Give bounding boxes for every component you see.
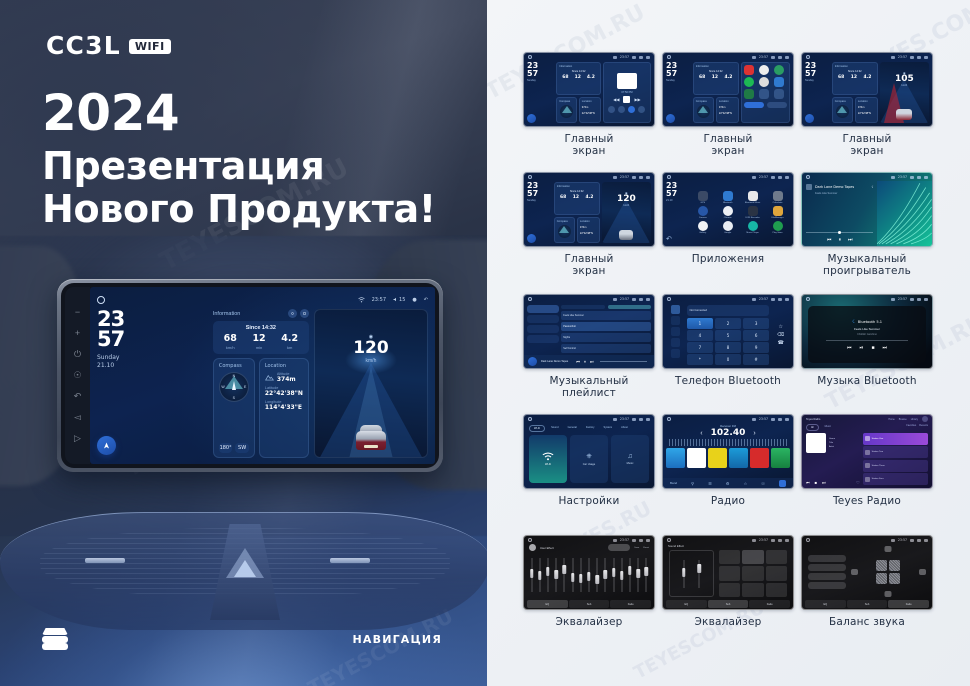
app-item[interactable]: DVR Recorder (741, 206, 764, 219)
quick-toggle-1[interactable] (744, 102, 764, 108)
plus-icon[interactable]: + (72, 328, 83, 339)
effect-grid[interactable] (719, 550, 787, 597)
status-time: 23:57 (759, 297, 768, 301)
latitude-value: 22°42'38"N (582, 112, 598, 115)
device-name: Not Connected (690, 309, 707, 312)
effect-tile[interactable] (742, 550, 763, 564)
compass-n: N (233, 374, 236, 378)
settings-tabs[interactable]: Wi-Fi Sound General Factory System About (524, 423, 654, 434)
stat-time-value: 12 (252, 334, 265, 344)
gallery-item[interactable]: Teyes RadioHomeBrowseLibrary All Music F… (801, 414, 933, 508)
dial-key[interactable]: * (687, 354, 714, 365)
clock-day: Sunday (97, 354, 208, 362)
volume-icon (910, 298, 914, 301)
number-field[interactable]: Not Connected (687, 305, 770, 316)
station-row[interactable]: Station Three (863, 460, 928, 472)
thumbnail-bluetooth-music[interactable]: 23:57 ☇ Bluetooth 5.1 Feels Like Summer … (801, 294, 933, 369)
media-opt-3[interactable] (628, 106, 635, 113)
location-title: Location (580, 220, 597, 223)
dial-key[interactable]: 3 (743, 318, 770, 329)
sub-sliders[interactable] (669, 550, 714, 597)
thumbnail-music-player[interactable]: 23:57 Dark Lane Demo Tapes ☇ Feels Like … (801, 172, 933, 247)
thumbnail-settings[interactable]: 23:57 Wi-Fi Sound General Factory System… (523, 414, 655, 489)
hero-line-2: Нового Продукта! (42, 188, 452, 231)
prev-station-icon[interactable]: ‹ (700, 430, 702, 437)
tab-eq[interactable]: EQ (527, 600, 568, 608)
preset-rear[interactable] (808, 564, 846, 571)
balance-up-button[interactable] (885, 546, 892, 552)
preset-5[interactable] (750, 448, 769, 468)
gallery-item[interactable]: 23:57 23 57 Sunday Information Since 14:… (523, 52, 655, 158)
stat-distance-value: 4.2 (863, 75, 871, 80)
dial-key[interactable]: # (743, 354, 770, 365)
preset-front[interactable] (808, 555, 846, 562)
favorite-heart-icon[interactable]: ♡ (856, 480, 860, 485)
thumbnail-music-playlist[interactable]: 23:57 Feels Like Summer Passionfruit (523, 294, 655, 369)
status-time: 23:57 (620, 55, 629, 59)
volume-icon (910, 176, 914, 179)
thumbnail-home-speed-120[interactable]: 23:57 23 57 Sunday Information Since 14:… (523, 172, 655, 247)
prev-icon[interactable]: ◀◀ (613, 97, 619, 102)
gallery-item[interactable]: 23:57 Feels Like Summer Passionfruit (523, 294, 655, 400)
media-widget[interactable]: 07:50 PM ◀◀ ▶▶ (603, 62, 651, 123)
dial-key[interactable]: 2 (715, 318, 742, 329)
app-icon-settings[interactable] (759, 89, 769, 99)
status-time: 23:57 (620, 417, 629, 421)
effect-tile[interactable] (719, 566, 740, 580)
thumbnail-sound-balance[interactable]: 23:57 (801, 535, 933, 610)
tab-fade[interactable]: Fade (888, 600, 929, 608)
grid-icon[interactable] (779, 480, 786, 487)
nav-item-home[interactable]: Home (888, 418, 894, 421)
back-icon[interactable]: ↶ (424, 297, 428, 303)
balance-left-button[interactable] (851, 569, 858, 575)
tab-sub[interactable]: Sub (708, 600, 749, 608)
gallery-item[interactable]: 23:57 23 57 Sunday Information Since 14:… (523, 172, 655, 278)
compass-e: E (244, 385, 246, 389)
seek-bar[interactable] (600, 361, 647, 362)
dial-key[interactable]: 6 (743, 330, 770, 341)
tab-sub[interactable]: Sub (847, 600, 888, 608)
equalizer-tabs[interactable]: EQ Sub Fade (802, 600, 932, 609)
effect-tile[interactable] (766, 566, 787, 580)
home-icon[interactable] (97, 296, 105, 304)
compass-dial (836, 105, 849, 118)
preset-6[interactable] (771, 448, 790, 468)
thumbnail-bluetooth-phone[interactable]: 23:57 Not Connected (662, 294, 794, 369)
road-speed-widget[interactable]: ◉ 105 km/h (880, 62, 929, 123)
bt-now-playing-card: ☇ Bluetooth 5.1 Feels Like Summer Childi… (808, 306, 926, 363)
status-time: 23:57 (898, 175, 907, 179)
app-item[interactable]: Bluetooth Music (741, 191, 764, 204)
settings-tile-music[interactable]: ♫ Music (611, 435, 649, 483)
back-icon[interactable]: ↶ (72, 391, 83, 402)
stat-speed-value: 68 (224, 334, 237, 344)
power-icon[interactable]: ⏻ (72, 349, 83, 360)
bluetooth-icon: ☇ (871, 185, 873, 189)
volume-up-icon[interactable]: ▷ (72, 433, 83, 444)
balance-presets[interactable] (808, 546, 846, 597)
track-list[interactable]: Feels Like Summer Passionfruit Nights Se… (561, 305, 651, 353)
road-speed-widget[interactable]: ◉ 120 km/h (602, 182, 651, 243)
sub-slider[interactable] (698, 560, 701, 588)
prev-icon[interactable]: ⏮ (827, 237, 832, 243)
media-opt-1[interactable] (608, 106, 615, 113)
compass-needle (232, 381, 236, 390)
track-row[interactable]: Self Control (561, 344, 651, 354)
sidebar-item-artist[interactable] (527, 315, 559, 323)
gallery-item[interactable]: 23:57 23 57 Sunday Information Since 14:… (801, 52, 933, 158)
thumbnail-equalizer-simple[interactable]: 23:57 Sound Effect (662, 535, 794, 610)
balance-pad[interactable] (851, 546, 926, 597)
favorite-star-icon[interactable]: ☆ (778, 324, 782, 330)
thumbnail-apps[interactable]: 23:57 23 57 21.10 ↶ GPS Bluetooth Blueto… (662, 172, 794, 247)
app-item[interactable]: GPS (691, 191, 714, 204)
eq-band[interactable] (612, 558, 615, 592)
station-row[interactable]: Station One (863, 433, 928, 445)
tab-wifi[interactable]: Wi-Fi (529, 425, 545, 432)
eq-band[interactable] (546, 558, 549, 592)
since-label: Since 14:32 (216, 325, 306, 331)
stat-speed-value: 68 (562, 75, 568, 80)
seek-handle[interactable] (838, 231, 841, 234)
tab-general[interactable]: General (565, 425, 580, 432)
gallery-item[interactable]: 23:57 Not Connected (662, 294, 794, 388)
equalizer-icon[interactable]: ⚙ (726, 481, 730, 486)
eq-band[interactable] (571, 558, 574, 592)
avatar[interactable] (922, 416, 928, 422)
gallery-item[interactable]: 23:57 User Effect Save Reset (523, 535, 655, 629)
app-item[interactable]: Play Store (766, 221, 789, 234)
compass-widget: Compass (832, 97, 853, 123)
gallery-item[interactable]: 23:57 Wi-Fi Sound General Factory System… (523, 414, 655, 508)
gallery-item[interactable]: 23:57 ☇ Bluetooth 5.1 Feels Like Summer … (801, 294, 933, 388)
minus-icon[interactable]: − (72, 307, 83, 318)
effect-tile[interactable] (719, 550, 740, 564)
compass-title: Compass (219, 363, 249, 369)
app-icon-mail[interactable] (774, 77, 784, 87)
track-title: Dark Lane Demo Tapes (815, 185, 854, 189)
nav-item-browse[interactable]: Browse (899, 418, 907, 421)
gallery-item[interactable]: 23:57 Dark Lane Demo Tapes ☇ Feels Like … (801, 172, 933, 278)
preset-selector[interactable] (608, 544, 630, 551)
home-icon (806, 55, 810, 59)
back-icon[interactable]: ↶ (666, 235, 688, 243)
track-row[interactable]: Nights (561, 333, 651, 343)
next-icon[interactable]: ⏭ (883, 345, 888, 351)
search-icon[interactable] (671, 327, 680, 336)
compass-direction: SW (235, 443, 249, 453)
sidebar-item-all[interactable] (527, 305, 559, 313)
prev-icon[interactable]: ⏮ (806, 480, 810, 485)
sidebar-item-folder[interactable] (527, 335, 559, 343)
wifi-icon (891, 298, 895, 301)
preset-stations[interactable] (663, 448, 793, 468)
reset-button[interactable]: Reset (643, 547, 649, 549)
gallery-caption: Настройки (523, 496, 655, 508)
eq-band[interactable] (596, 558, 599, 592)
tab-system[interactable]: System (600, 425, 615, 432)
dial-key[interactable]: 7 (687, 342, 714, 353)
thumbnail-home-speed-105[interactable]: 23:57 23 57 Sunday Information Since 14:… (801, 52, 933, 127)
caption-line-1: Главный (801, 134, 933, 146)
app-icon-grid[interactable] (774, 89, 784, 99)
volume-down-icon[interactable]: ◅ (72, 412, 83, 423)
effect-tile[interactable] (742, 583, 763, 597)
app-item[interactable]: Music Player (741, 221, 764, 234)
back-icon (646, 176, 650, 179)
mute-icon (639, 56, 643, 59)
compass-dial (558, 225, 571, 238)
dial-key[interactable]: 0 (715, 354, 742, 365)
app-item[interactable]: Google (716, 221, 739, 234)
filter-all[interactable]: All (806, 424, 819, 431)
call-icon[interactable]: ☎ (778, 340, 784, 346)
stop-icon[interactable] (623, 96, 630, 103)
favorite-star-icon[interactable]: ☆ (744, 481, 748, 486)
app-item[interactable]: Chrome (716, 206, 739, 219)
eq-band[interactable] (530, 558, 533, 592)
pause-icon[interactable]: ⏸ (584, 359, 586, 364)
right-gallery-panel: TEYESCOM.RU TEYES.COM.RU TEYESCOM.RU TEY… (487, 0, 970, 686)
preset-center[interactable] (808, 582, 846, 589)
preset-1[interactable] (666, 448, 685, 468)
app-item[interactable]: Calculator (766, 191, 789, 204)
app-item[interactable]: Camera (691, 206, 714, 219)
location-widget: Location 374m 22°42'38"N (577, 217, 600, 243)
eq-band[interactable] (645, 558, 648, 592)
vent-tab-left (85, 558, 125, 563)
app-icon-gallery[interactable] (759, 77, 769, 87)
equalizer-tabs[interactable]: EQ Sub Fade (524, 600, 654, 609)
effect-tile[interactable] (766, 583, 787, 597)
app-icon-youtube[interactable] (744, 65, 754, 75)
call-history-icon[interactable] (671, 338, 680, 347)
eq-band[interactable] (563, 558, 566, 592)
next-icon[interactable]: ⏭ (822, 480, 826, 485)
stat-time-value: 12 (573, 195, 579, 200)
refresh-icon[interactable] (300, 309, 309, 318)
settings-gear-icon[interactable] (671, 349, 680, 358)
eq-band[interactable] (620, 558, 623, 592)
gallery-item[interactable]: 23:57 23 57 21.10 ↶ GPS Bluetooth Blueto… (662, 172, 794, 266)
gallery-item[interactable]: 23:57 Sound Effect (662, 535, 794, 629)
thumbnail-home-apps[interactable]: 23:57 23 57 Sunday Information Since 14:… (662, 52, 794, 127)
station-row[interactable]: Station Two (863, 446, 928, 458)
tab-eq[interactable]: EQ (805, 600, 846, 608)
app-icon-spotify[interactable] (744, 77, 754, 87)
status-time: 23:57 (372, 297, 386, 303)
caption-line-2: проигрыватель (801, 266, 933, 278)
teyes-now-playing: Genre Title Artist ⏮ ■ ⏭ ♡ (806, 433, 860, 485)
settings-tile-usage[interactable]: ⎈ Car Usage (570, 435, 608, 483)
sub-slider[interactable] (682, 560, 685, 588)
thumbnail-home-media[interactable]: 23:57 23 57 Sunday Information Since 14:… (523, 52, 655, 127)
tab-fade[interactable]: Fade (749, 600, 790, 608)
mute-icon (778, 56, 782, 59)
effect-tile[interactable] (766, 550, 787, 564)
gallery-caption: Музыкальный плейлист (523, 376, 655, 400)
balance-down-button[interactable] (885, 591, 892, 597)
wifi-icon (613, 539, 617, 542)
home-icon (528, 297, 532, 301)
eq-band[interactable] (587, 558, 590, 592)
stop-icon[interactable]: ■ (815, 480, 817, 485)
tab-factory[interactable]: Factory (583, 425, 598, 432)
tab-fade[interactable]: Fade (610, 600, 651, 608)
home-icon[interactable]: ☉ (72, 370, 83, 381)
preset-4[interactable] (729, 448, 748, 468)
app-icon-play-store[interactable] (744, 89, 754, 99)
sidebar-item-album[interactable] (527, 325, 559, 333)
preset-3[interactable] (708, 448, 727, 468)
eq-band[interactable] (604, 558, 607, 592)
home-icon (667, 175, 671, 179)
gallery-caption: Teyes Радио (801, 496, 933, 508)
next-icon[interactable]: ⏭ (848, 237, 853, 243)
playlist-icon[interactable] (806, 184, 812, 190)
next-station-icon[interactable]: › (753, 430, 755, 437)
clock-widget[interactable]: 23 57 Sunday 21.10 (97, 309, 208, 371)
dial-key[interactable]: 1 (687, 318, 714, 329)
tab-about[interactable]: About (618, 425, 631, 432)
tuning-scale[interactable] (669, 439, 787, 446)
eq-band[interactable] (555, 558, 558, 592)
tab-sound[interactable]: Sound (548, 425, 562, 432)
home-icon (667, 297, 671, 301)
nav-item-library[interactable]: Library (911, 418, 918, 421)
recents-label[interactable]: Recents (919, 424, 928, 431)
app-item[interactable]: FileManager (766, 206, 789, 219)
track-row[interactable]: Passionfruit (561, 322, 651, 332)
speed-unit: km/h (602, 204, 651, 207)
quick-toggle-2[interactable] (767, 102, 787, 108)
road-speed-widget[interactable]: ◉ 120 km/h (314, 309, 428, 458)
tile-label: Wi-Fi (545, 463, 551, 466)
equalizer-bands[interactable] (524, 551, 654, 600)
settings-gear-icon[interactable]: ☉ (761, 481, 765, 486)
stat-speed-unit: km/h (224, 345, 237, 350)
app-shortcuts-widget[interactable] (741, 62, 790, 123)
seek-bar[interactable] (826, 340, 909, 341)
longitude-row: Longitude 114°4'33"E (265, 400, 303, 411)
preset-left[interactable] (808, 573, 846, 580)
dialpad[interactable]: 1 2 3 4 5 6 7 8 9 * 0 # (687, 318, 770, 365)
eq-band[interactable] (628, 558, 631, 592)
equalizer-tabs[interactable]: EQ Sub Fade (663, 600, 793, 609)
next-icon[interactable]: ▶▶ (634, 97, 640, 102)
stop-icon[interactable]: ■ (871, 345, 874, 351)
head-unit-hardware-buttons[interactable]: − + ⏻ ☉ ↶ ◅ ▷ (65, 287, 90, 464)
thumbnail-equalizer-bands[interactable]: 23:57 User Effect Save Reset (523, 535, 655, 610)
save-button[interactable]: Save (634, 547, 639, 549)
tab-sub[interactable]: Sub (569, 600, 610, 608)
track-artist: Feels Like Summer (815, 192, 873, 195)
balance-right-button[interactable] (919, 569, 926, 575)
wifi-icon (542, 452, 554, 461)
compass-title: Compass (696, 100, 711, 103)
dialpad-icon[interactable] (671, 305, 680, 314)
play-pause-icon[interactable]: ⏯ (859, 345, 863, 351)
compass-widget[interactable]: Compass N E S W (213, 358, 255, 458)
media-opt-4[interactable] (638, 106, 645, 113)
media-opt-2[interactable] (618, 106, 625, 113)
phone-actions[interactable]: ☆ ⌫ ☎ (771, 305, 790, 365)
pause-icon[interactable]: ⏸ (838, 237, 841, 243)
location-widget[interactable]: Location Altitude 374m (259, 358, 309, 458)
dial-key[interactable]: 9 (743, 342, 770, 353)
eq-band[interactable] (538, 558, 541, 592)
filter-music[interactable]: Music (822, 424, 834, 431)
app-icon-chrome[interactable] (759, 65, 769, 75)
preset-2[interactable] (687, 448, 706, 468)
backspace-icon[interactable]: ⌫ (777, 332, 784, 338)
sort-label[interactable]: Favorites (906, 424, 916, 431)
radio-toolbar[interactable]: Band ⚲ ☰ ⚙ ☆ ☉ (663, 478, 793, 488)
clock-minutes: 57 (805, 70, 830, 78)
settings-gear-icon[interactable] (288, 309, 297, 318)
stat-distance-value: 4.2 (724, 75, 732, 80)
prev-icon[interactable]: ⏮ (576, 359, 580, 364)
gallery-item[interactable]: 23:57 23 57 Sunday Information Since 14:… (662, 52, 794, 158)
phone-sidebar[interactable] (666, 305, 685, 365)
navigation-arrow-icon[interactable] (97, 436, 116, 455)
information-widget[interactable]: Information Since 14:32 (213, 309, 309, 354)
settings-tile-wifi[interactable]: Wi-Fi (529, 435, 567, 483)
effect-tile[interactable] (742, 566, 763, 580)
caption-line-1: Баланс звука (801, 617, 933, 629)
eq-band[interactable] (579, 558, 582, 592)
track-row[interactable]: Feels Like Summer (561, 311, 651, 321)
volume-icon (910, 539, 914, 542)
widgets-column: Information Since 14:32 (213, 309, 309, 458)
next-icon[interactable]: ⏭ (590, 359, 594, 364)
dial-key[interactable]: 5 (715, 330, 742, 341)
stat-time-value: 12 (851, 75, 857, 80)
wifi-icon (752, 298, 756, 301)
app-icon-maps[interactable] (774, 65, 784, 75)
teyes-station-list[interactable]: Station One Station Two Station Three St… (863, 433, 928, 485)
latitude-value: 22°42'38"N (580, 232, 597, 235)
search-icon[interactable]: ⚲ (691, 481, 694, 486)
gallery-item[interactable]: 23:57 (801, 535, 933, 629)
dial-key[interactable]: 4 (687, 330, 714, 341)
app-drawer[interactable]: GPS Bluetooth Bluetooth Music Calculator… (690, 182, 790, 243)
prev-icon[interactable]: ⏮ (847, 345, 852, 351)
band-button[interactable]: Band (670, 481, 677, 485)
eq-band[interactable] (637, 558, 640, 592)
radio-frequency: 102.40 (711, 428, 746, 438)
station-row[interactable]: Station Four (863, 473, 928, 485)
app-item[interactable]: Bluetooth (716, 191, 739, 204)
app-item[interactable]: Gallery (691, 221, 714, 234)
gallery-item[interactable]: 23:57 Receiver FM ‹ 102.40 › (662, 414, 794, 508)
tab-eq[interactable]: EQ (666, 600, 707, 608)
thumbnail-radio[interactable]: 23:57 Receiver FM ‹ 102.40 › (662, 414, 794, 489)
playlist-sidebar[interactable] (527, 305, 559, 353)
mute-icon[interactable]: ● (412, 297, 416, 303)
home-icon (528, 175, 532, 179)
mini-player-bar[interactable]: Dark Lane Demo Tapes ⏮ ⏸ ⏭ (524, 355, 654, 368)
contacts-icon[interactable] (671, 316, 680, 325)
effect-tile[interactable] (719, 583, 740, 597)
preset-icon[interactable] (529, 544, 536, 551)
thumbnail-teyes-radio[interactable]: Teyes RadioHomeBrowseLibrary All Music F… (801, 414, 933, 489)
head-unit-screen[interactable]: 23:57 15 ● ↶ 23 57 (90, 287, 435, 464)
music-note-icon: ♫ (627, 453, 632, 460)
dial-key[interactable]: 8 (715, 342, 742, 353)
list-icon[interactable]: ☰ (708, 481, 712, 486)
